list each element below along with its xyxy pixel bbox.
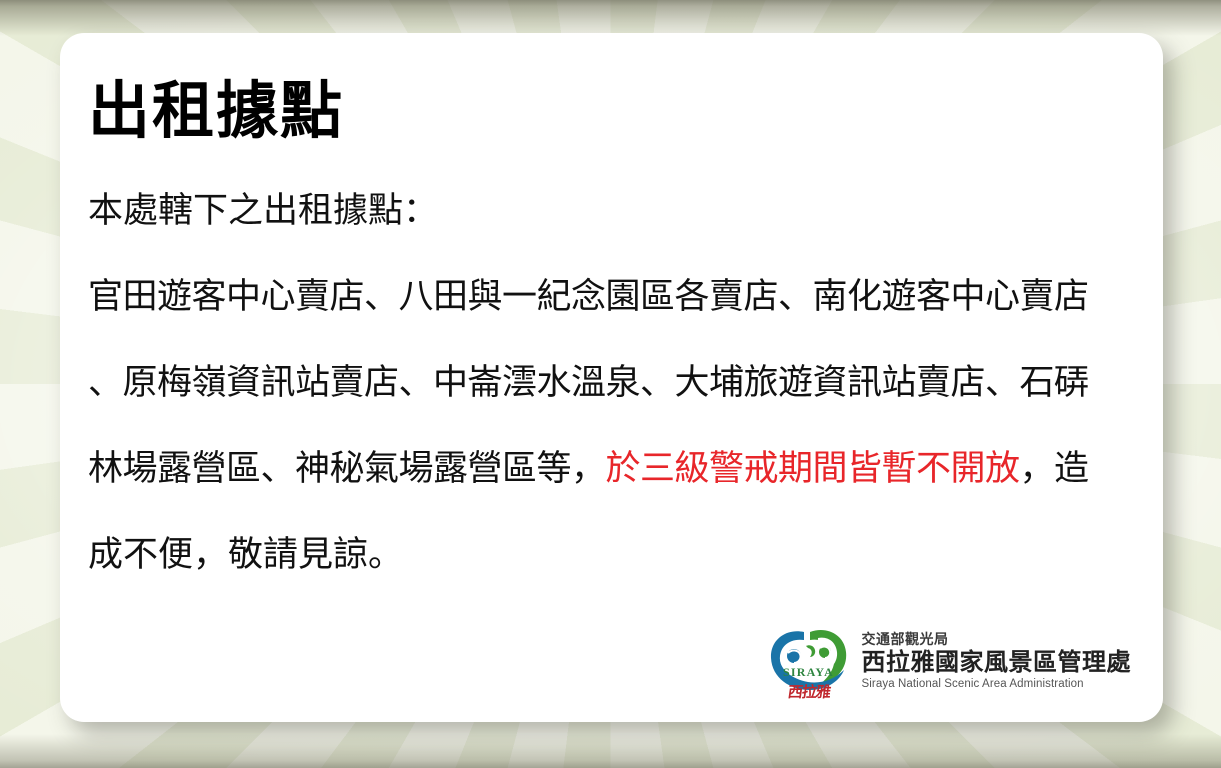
siraya-logo-lockup: SIRAYA 西拉雅 交通部觀光局 西拉雅國家風景區管理處 Siraya Nat… — [766, 620, 1132, 704]
content-card-inner: 出租據點 本處轄下之出租據點： 官田遊客中心賣店、八田與一紀念園區各賣店、南化遊… — [88, 47, 1143, 722]
body-line-3: 、原梅嶺資訊站賣店、中崙澐水溫泉、大埔旅遊資訊站賣店、石硦 — [88, 340, 1110, 426]
siraya-swirl-logo-icon: SIRAYA 西拉雅 — [766, 620, 852, 704]
body-line-5: 成不便，敬請見諒。 — [88, 512, 1110, 598]
background-bottom-edge-band — [0, 734, 1221, 768]
agency-name-block: 交通部觀光局 西拉雅國家風景區管理處 Siraya National Sceni… — [862, 633, 1132, 691]
body-line-2: 官田遊客中心賣店、八田與一紀念園區各賣店、南化遊客中心賣店 — [88, 254, 1110, 340]
body-line-2-text: 官田遊客中心賣店、八田與一紀念園區各賣店、南化遊客中心賣店 — [88, 277, 1089, 317]
body-text-block: 本處轄下之出租據點： 官田遊客中心賣店、八田與一紀念園區各賣店、南化遊客中心賣店… — [88, 168, 1110, 598]
body-line-1-text: 本處轄下之出租據點： — [88, 191, 438, 231]
agency-ministry-label: 交通部觀光局 — [862, 633, 1132, 649]
siraya-logo-cn-label: 西拉雅 — [764, 681, 853, 702]
body-line-5-text: 成不便，敬請見諒。 — [88, 535, 403, 575]
slide-stage: 出租據點 本處轄下之出租據點： 官田遊客中心賣店、八田與一紀念園區各賣店、南化遊… — [0, 0, 1221, 768]
siraya-logo-en-label: SIRAYA — [766, 665, 852, 680]
content-card: 出租據點 本處轄下之出租據點： 官田遊客中心賣店、八田與一紀念園區各賣店、南化遊… — [60, 33, 1163, 722]
body-line-4-text-tail: ，造 — [1020, 449, 1089, 489]
body-line-1: 本處轄下之出租據點： — [88, 168, 1110, 254]
body-line-4: 林場露營區、神秘氣場露營區等，於三級警戒期間皆暫不開放，造 — [88, 426, 1110, 512]
page-title: 出租據點 — [88, 75, 1143, 146]
body-line-3-text: 、原梅嶺資訊站賣店、中崙澐水溫泉、大埔旅遊資訊站賣店、石硦 — [88, 363, 1089, 403]
background-top-edge-band — [0, 0, 1221, 36]
agency-name-zh: 西拉雅國家風景區管理處 — [862, 649, 1132, 676]
body-line-4-text-highlight: 於三級警戒期間皆暫不開放 — [606, 449, 1020, 489]
agency-name-en: Siraya National Scenic Area Administrati… — [862, 678, 1132, 691]
body-line-4-text-lead: 林場露營區、神秘氣場露營區等， — [88, 449, 606, 489]
